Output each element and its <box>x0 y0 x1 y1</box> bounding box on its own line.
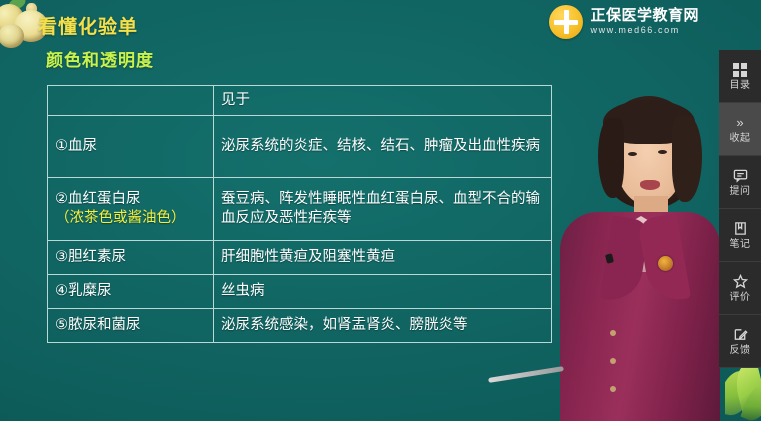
table-header-row: 见于 <box>48 86 552 116</box>
sidebar-item-ask[interactable]: 提问 <box>719 156 761 209</box>
table-cell-seen-in: 泌尿系统的炎症、结核、结石、肿瘤及出血性疾病 <box>214 116 552 178</box>
brand-url: www.med66.com <box>590 26 699 35</box>
grid-icon <box>732 62 748 78</box>
table-header-item <box>48 86 214 116</box>
chevron-double-right-icon: » <box>732 115 748 131</box>
urine-color-table: 见于 ①血尿 泌尿系统的炎症、结核、结石、肿瘤及出血性疾病 ②血红蛋白尿 （浓茶… <box>47 85 552 343</box>
section-title: 颜色和透明度 <box>46 46 154 71</box>
table-cell-item: ①血尿 <box>48 116 214 178</box>
sidebar-item-label: 提问 <box>730 187 751 197</box>
sidebar-item-label: 收起 <box>730 134 751 144</box>
sidebar-item-feedback[interactable]: 反馈 <box>719 315 761 368</box>
sidebar-item-label: 目录 <box>730 81 751 91</box>
sidebar-item-collapse[interactable]: » 收起 <box>719 103 761 156</box>
plant-decoration-icon <box>725 368 761 421</box>
table-header-seen-in: 见于 <box>214 86 552 116</box>
brand-logo: 正保医学教育网 www.med66.com <box>549 5 699 39</box>
table-cell-item: ③胆红素尿 <box>48 240 214 274</box>
sidebar-item-rating[interactable]: 评价 <box>719 262 761 315</box>
table-row: ④乳糜尿 丝虫病 <box>48 274 552 308</box>
sidebar-item-label: 反馈 <box>730 346 751 356</box>
sidebar-item-notes[interactable]: 笔记 <box>719 209 761 262</box>
table-cell-seen-in: 蚕豆病、阵发性睡眠性血红蛋白尿、血型不合的输血反应及恶性疟疾等 <box>214 178 552 240</box>
sidebar-item-catalog[interactable]: 目录 <box>719 50 761 103</box>
note-icon <box>732 221 748 237</box>
presenter-video-overlay <box>548 96 724 421</box>
table-cell-seen-in: 肝细胞性黄疸及阻塞性黄疸 <box>214 240 552 274</box>
brand-name: 正保医学教育网 <box>590 8 699 24</box>
table-cell-seen-in: 丝虫病 <box>214 274 552 308</box>
table-cell-seen-in: 泌尿系统感染，如肾盂肾炎、膀胱炎等 <box>214 308 552 342</box>
table-cell-item: ④乳糜尿 <box>48 274 214 308</box>
table-row: ③胆红素尿 肝细胞性黄疸及阻塞性黄疸 <box>48 240 552 274</box>
star-icon <box>732 274 748 290</box>
table-cell-item-note: （浓茶色或酱油色） <box>55 209 206 228</box>
table-row: ②血红蛋白尿 （浓茶色或酱油色） 蚕豆病、阵发性睡眠性血红蛋白尿、血型不合的输血… <box>48 178 552 240</box>
video-player-stage: 看懂化验单 颜色和透明度 正保医学教育网 www.med66.com <box>0 0 761 421</box>
table-row: ⑤脓尿和菌尿 泌尿系统感染，如肾盂肾炎、膀胱炎等 <box>48 308 552 342</box>
table-cell-item: ②血红蛋白尿 （浓茶色或酱油色） <box>48 178 214 240</box>
cross-circle-icon <box>549 5 583 39</box>
lesson-title: 看懂化验单 <box>38 12 138 39</box>
brooch-icon <box>658 256 673 271</box>
sidebar-item-label: 评价 <box>730 293 751 303</box>
sidebar-item-label: 笔记 <box>730 240 751 250</box>
table-cell-item: ⑤脓尿和菌尿 <box>48 308 214 342</box>
tool-sidebar: 目录 » 收起 提问 <box>719 50 761 368</box>
chat-bubble-icon <box>732 168 748 184</box>
table-cell-item-main: ②血红蛋白尿 <box>55 190 206 209</box>
feedback-pencil-icon <box>732 327 748 343</box>
table-row: ①血尿 泌尿系统的炎症、结核、结石、肿瘤及出血性疾病 <box>48 116 552 178</box>
